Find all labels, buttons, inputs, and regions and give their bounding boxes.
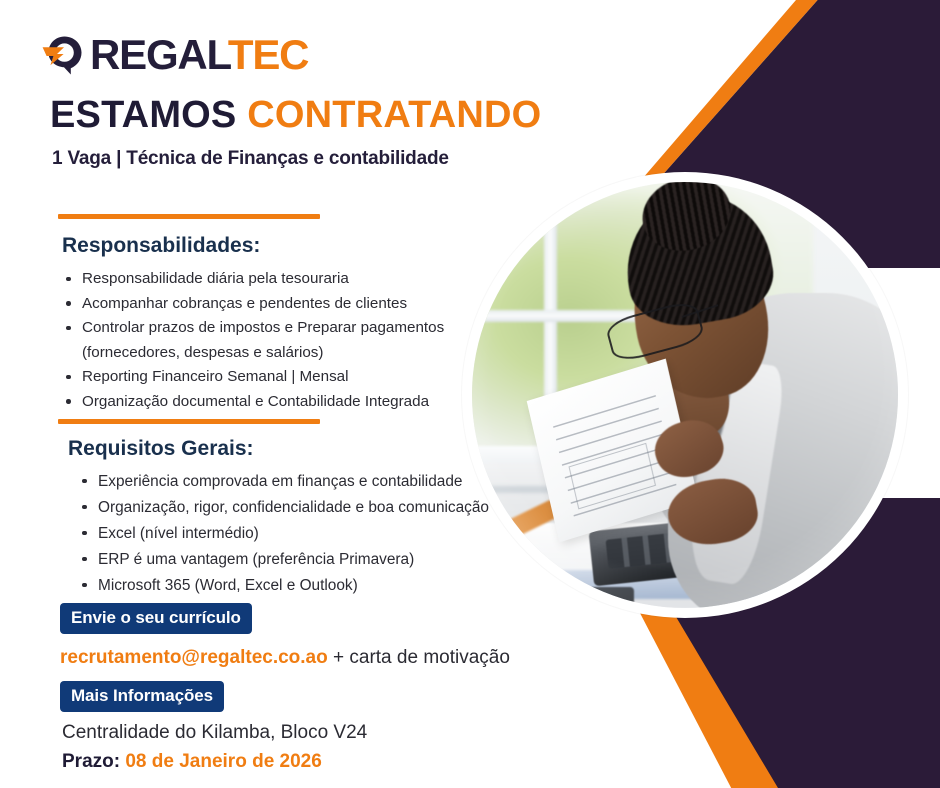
list-item: Excel (nível intermédio) [78, 522, 508, 546]
list-item: Reporting Financeiro Semanal | Mensal [62, 366, 492, 388]
job-subtitle: 1 Vaga | Técnica de Finanças e contabili… [52, 148, 449, 170]
brand-logo: REGALTEC [40, 33, 308, 77]
requisitos-list: Experiência comprovada em finanças e con… [78, 470, 508, 600]
job-posting-poster: REGALTEC ESTAMOS CONTRATANDO 1 Vaga | Té… [0, 0, 940, 788]
list-item: Organização, rigor, confidencialidade e … [78, 496, 508, 520]
deadline-value: 08 de Janeiro de 2026 [120, 751, 322, 772]
status-badge-envie-curriculo: Envie o seu currículo [60, 603, 252, 634]
status-badge-mais-informacoes: Mais Informações [60, 681, 224, 712]
email-suffix: + carta de motivação [328, 647, 510, 668]
hero-photo [472, 182, 898, 608]
photo-scene [472, 182, 898, 608]
section-title-requisitos: Requisitos Gerais: [68, 437, 254, 461]
list-item: Acompanhar cobranças e pendentes de clie… [62, 293, 492, 315]
email-line: recrutamento@regaltec.co.ao + carta de m… [60, 647, 510, 669]
list-item: ERP é uma vantagem (preferência Primaver… [78, 548, 508, 572]
list-item: Responsabilidade diária pela tesouraria [62, 268, 492, 290]
contact-email[interactable]: recrutamento@regaltec.co.ao [60, 647, 328, 668]
list-item: Organização documental e Contabilidade I… [62, 391, 492, 413]
deadline-line: Prazo: 08 de Janeiro de 2026 [62, 751, 322, 773]
divider-responsabilidades [58, 214, 320, 219]
list-item: Experiência comprovada em finanças e con… [78, 470, 508, 494]
list-item-continuation: (fornecedores, despesas e salários) [62, 342, 492, 364]
list-item: Controlar prazos de impostos e Preparar … [62, 317, 492, 339]
headline-estamos: ESTAMOS [50, 94, 236, 136]
regaltec-arrow-icon [40, 33, 86, 77]
page-title: ESTAMOS CONTRATANDO [50, 94, 541, 137]
logo-tec-text: TEC [228, 31, 308, 78]
section-title-responsabilidades: Responsabilidades: [62, 234, 260, 258]
list-item: Microsoft 365 (Word, Excel e Outlook) [78, 574, 508, 598]
deadline-label: Prazo: [62, 751, 120, 772]
contact-address: Centralidade do Kilamba, Bloco V24 [62, 722, 367, 744]
divider-requisitos [58, 419, 320, 424]
headline-contratando: CONTRATANDO [247, 94, 541, 136]
responsabilidades-list: Responsabilidade diária pela tesouraria … [62, 268, 492, 415]
photo-vignette [472, 182, 898, 608]
logo-wordmark: REGALTEC [90, 34, 308, 76]
logo-regal-text: REGAL [90, 31, 228, 78]
